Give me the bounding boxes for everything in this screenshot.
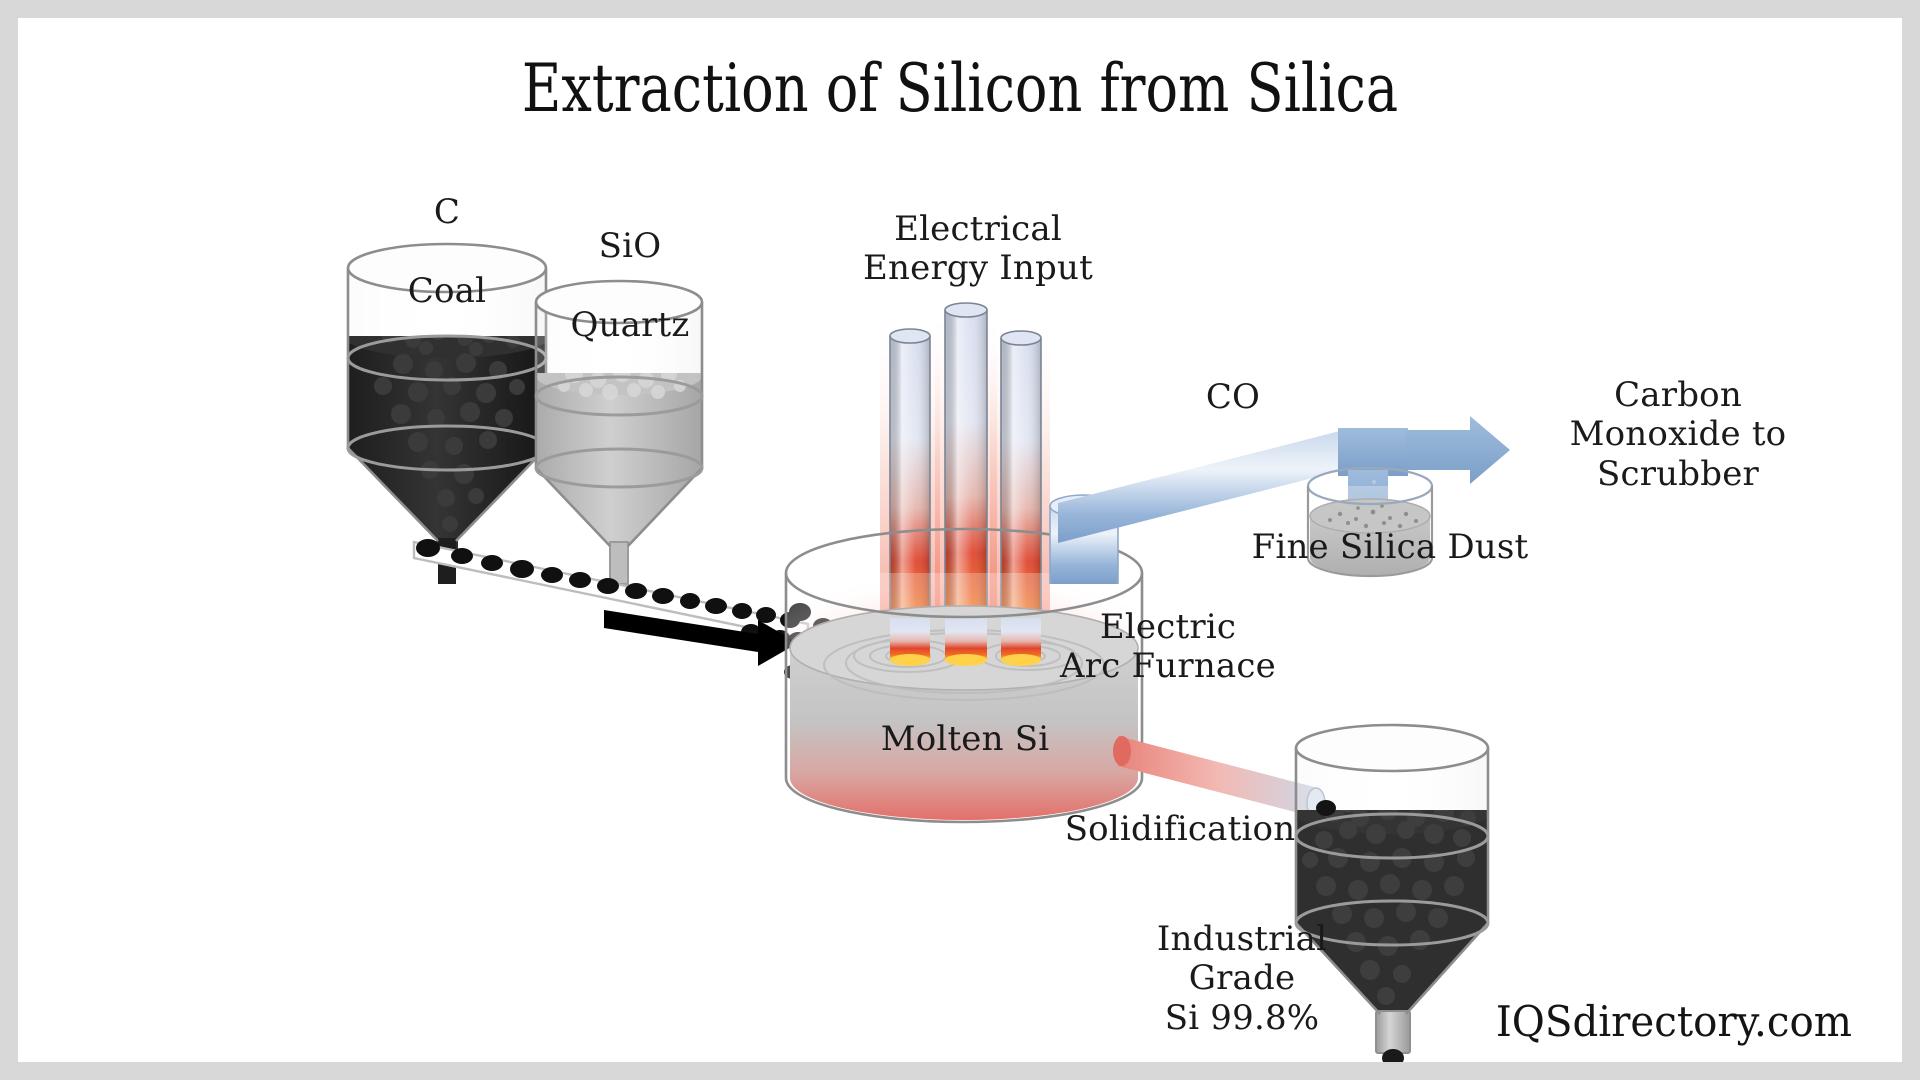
label-product: Industrial Grade Si 99.8% — [1120, 920, 1364, 1038]
diagram-canvas: Extraction of Silicon from Silica — [18, 18, 1902, 1062]
quartz-formula: SiO — [496, 227, 764, 266]
label-energy-input: Electrical Energy Input — [808, 210, 1148, 289]
label-solidification: Solidification — [1030, 810, 1330, 849]
quartz-name: Quartz — [496, 306, 764, 345]
label-quartz: SiO Quartz — [496, 188, 764, 385]
label-molten-si: Molten Si — [850, 720, 1080, 759]
process-flow-illustration — [18, 18, 1902, 1062]
label-fine-silica-dust: Fine Silica Dust — [1240, 528, 1540, 567]
electrode-tips — [890, 618, 1041, 666]
molten-si-tap-line — [1113, 736, 1325, 818]
watermark: IQSdirectory.com — [1496, 997, 1852, 1046]
label-co-gas: CO — [1188, 378, 1278, 417]
label-electric-arc-furnace: Electric Arc Furnace — [1046, 608, 1290, 687]
label-carbon-monoxide-out: Carbon Monoxide to Scrubber — [1492, 376, 1864, 494]
